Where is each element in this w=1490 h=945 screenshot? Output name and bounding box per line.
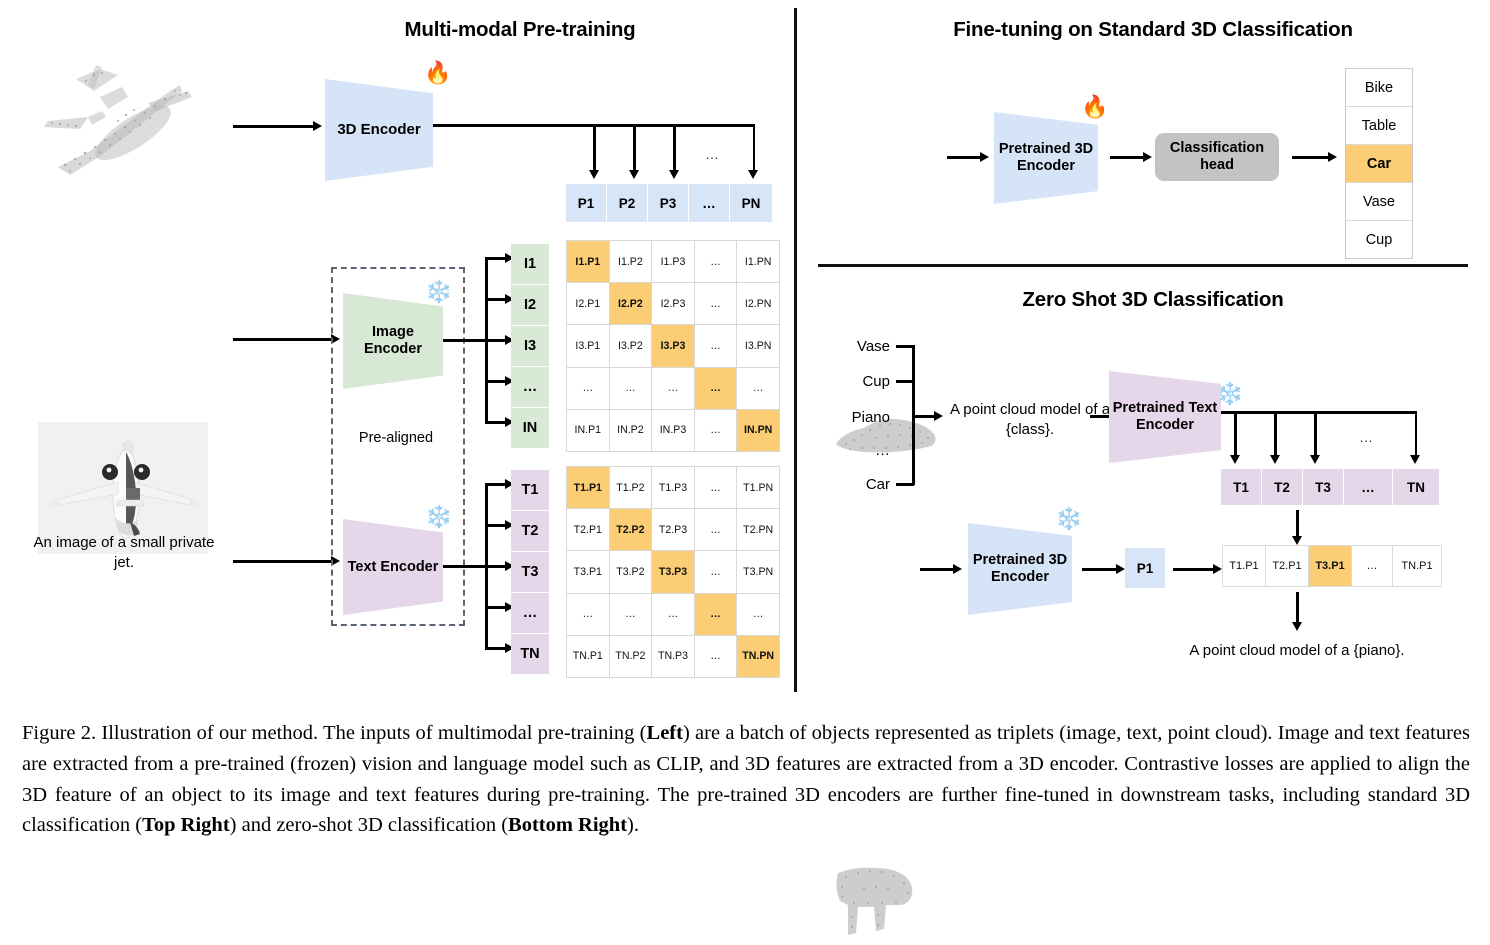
zs-chip-tn: TN xyxy=(1393,469,1439,505)
snowflake-icon-text: ❄️ xyxy=(425,506,452,528)
image-matrix-cell-r1-c1: I1.P1 xyxy=(567,241,609,282)
text-matrix-cell-r1-c1: T1.P1 xyxy=(567,467,609,508)
image-matrix-cell-r1-c4: … xyxy=(695,241,737,282)
chip-t-ellipsis: … xyxy=(511,593,549,634)
chip-i3: I3 xyxy=(511,326,549,367)
image-matrix-cell-r4-c2: … xyxy=(610,368,652,409)
class-item-bike: Bike xyxy=(1346,69,1412,107)
bottom-right-title: Zero Shot 3D Classification xyxy=(838,288,1468,312)
encoder-image: Image Encoder xyxy=(343,293,443,389)
caption-mid2: ) and zero-shot 3D classification ( xyxy=(230,814,508,836)
image-matrix-cell-r2-c3: I2.P3 xyxy=(652,283,694,324)
image-matrix-cell-r5-c4: … xyxy=(695,410,737,451)
chip-t3: T3 xyxy=(511,552,549,593)
zs-chip-t3: T3 xyxy=(1303,469,1344,505)
chip-pn: PN xyxy=(730,184,772,222)
caption-bold-left: Left xyxy=(647,722,683,744)
fire-icon-finetune: 🔥 xyxy=(1081,96,1108,118)
chip-p2: P2 xyxy=(607,184,648,222)
text-matrix-cell-r3-c3: T3.P3 xyxy=(652,551,694,592)
text-matrix-cell-r2-c2: T2.P2 xyxy=(610,509,652,550)
zs-sim-cell-2: T2.P1 xyxy=(1266,546,1308,586)
text-matrix-cell-r4-c2: … xyxy=(610,594,652,635)
snowflake-icon-zs-3d: ❄️ xyxy=(1055,508,1082,530)
pretrained-3d-encoder-label: Pretrained 3D Encoder xyxy=(994,141,1098,174)
text-matrix-cell-r4-c5: … xyxy=(737,594,779,635)
chip-tn: TN xyxy=(511,634,549,674)
zs-t-feature-row: T1 T2 T3 … TN xyxy=(1221,469,1439,505)
p-feature-row: P1 P2 P3 … PN xyxy=(566,184,772,222)
image-matrix-cell-r4-c3: … xyxy=(652,368,694,409)
classification-result-list: BikeTableCarVaseCup xyxy=(1345,68,1413,259)
text-input-caption: An image of a small private jet. xyxy=(28,533,220,574)
image-matrix-cell-r2-c1: I2.P1 xyxy=(567,283,609,324)
text-matrix-cell-r1-c2: T1.P2 xyxy=(610,467,652,508)
fire-icon: 🔥 xyxy=(424,62,451,84)
zs-chip-t1: T1 xyxy=(1221,469,1262,505)
chip-p1: P1 xyxy=(566,184,607,222)
chip-p-ellipsis: … xyxy=(689,184,730,222)
text-matrix-cell-r2-c1: T2.P1 xyxy=(567,509,609,550)
text-matrix-cell-r5-c4: … xyxy=(695,636,737,677)
text-matrix-cell-r2-c4: … xyxy=(695,509,737,550)
i-feature-stack: I1 I2 I3 … IN xyxy=(511,244,549,448)
class-item-vase: Vase xyxy=(1346,183,1412,221)
text-matrix-cell-r1-c4: … xyxy=(695,467,737,508)
snowflake-icon-image: ❄️ xyxy=(425,281,452,303)
zs-chip-p1: P1 xyxy=(1125,548,1166,588)
chip-p3: P3 xyxy=(648,184,689,222)
image-matrix-cell-r4-c1: … xyxy=(567,368,609,409)
zs-chip-t-ellipsis: … xyxy=(1344,469,1393,505)
class-item-cup: Cup xyxy=(1346,221,1412,258)
text-matrix-cell-r1-c3: T1.P3 xyxy=(652,467,694,508)
image-matrix-cell-r5-c5: IN.PN xyxy=(737,410,779,451)
text-matrix-cell-r4-c3: … xyxy=(652,594,694,635)
chip-in: IN xyxy=(511,408,549,448)
zs-class-ellipsis: … xyxy=(832,442,890,459)
pretrained-3d-encoder-zeroshot: Pretrained 3D Encoder xyxy=(968,523,1072,615)
image-matrix-cell-r3-c5: I3.PN xyxy=(737,325,779,366)
text-matrix-cell-r3-c1: T3.P1 xyxy=(567,551,609,592)
zeroshot-result-text: A point cloud model of a {piano}. xyxy=(1172,641,1422,661)
chip-i-ellipsis: … xyxy=(511,367,549,408)
zs-class-car: Car xyxy=(832,476,890,493)
pretrained-3d-encoder-finetune: Pretrained 3D Encoder xyxy=(994,112,1098,204)
text-matrix-cell-r5-c2: TN.P2 xyxy=(610,636,652,677)
text-matrix-cell-r5-c1: TN.P1 xyxy=(567,636,609,677)
encoder-image-label: Image Encoder xyxy=(343,324,443,357)
image-matrix-cell-r5-c3: IN.P3 xyxy=(652,410,694,451)
encoder-3d: 3D Encoder xyxy=(325,79,433,181)
text-matrix-cell-r4-c1: … xyxy=(567,594,609,635)
piano-point-cloud xyxy=(828,861,1490,945)
text-matrix-cell-r5-c5: TN.PN xyxy=(737,636,779,677)
top-right-title: Fine-tuning on Standard 3D Classificatio… xyxy=(838,18,1468,42)
t-feature-stack: T1 T2 T3 … TN xyxy=(511,470,549,674)
text-matrix-cell-r3-c2: T3.P2 xyxy=(610,551,652,592)
left-panel-title: Multi-modal Pre-training xyxy=(250,18,790,42)
image-matrix-cell-r4-c4: … xyxy=(695,368,737,409)
caption-bold-topright: Top Right xyxy=(142,814,230,836)
caption-suffix: ). xyxy=(627,814,639,836)
encoder-3d-label: 3D Encoder xyxy=(337,121,420,138)
text-matrix-cell-r4-c4: … xyxy=(695,594,737,635)
text-similarity-matrix: T1.P1T1.P2T1.P3…T1.PNT2.P1T2.P2T2.P3…T2.… xyxy=(566,466,780,678)
figure-caption: Figure 2. Illustration of our method. Th… xyxy=(22,718,1470,841)
chip-i2: I2 xyxy=(511,285,549,326)
horizontal-divider xyxy=(818,264,1468,267)
image-matrix-cell-r1-c3: I1.P3 xyxy=(652,241,694,282)
zs-sim-cell-5: TN.P1 xyxy=(1393,546,1441,586)
encoder-text-label: Text Encoder xyxy=(348,559,439,576)
image-matrix-cell-r3-c4: … xyxy=(695,325,737,366)
text-matrix-cell-r1-c5: T1.PN xyxy=(737,467,779,508)
fanout-ellipsis: … xyxy=(705,146,720,162)
text-matrix-cell-r5-c3: TN.P3 xyxy=(652,636,694,677)
pretrained-3d-encoder-zs-label: Pretrained 3D Encoder xyxy=(968,552,1072,585)
image-matrix-cell-r3-c2: I3.P2 xyxy=(610,325,652,366)
pretrained-text-encoder: Pretrained Text Encoder xyxy=(1109,371,1221,463)
image-matrix-cell-r3-c3: I3.P3 xyxy=(652,325,694,366)
text-matrix-cell-r3-c4: … xyxy=(695,551,737,592)
zs-sim-cell-4: … xyxy=(1352,546,1392,586)
text-matrix-cell-r2-c5: T2.PN xyxy=(737,509,779,550)
zs-class-vase: Vase xyxy=(832,338,890,355)
caption-bold-bottomright: Bottom Right xyxy=(508,814,627,836)
text-matrix-cell-r3-c5: T3.PN xyxy=(737,551,779,592)
class-item-car: Car xyxy=(1346,145,1412,183)
zs-sim-cell-1: T1.P1 xyxy=(1223,546,1265,586)
prealigned-label: Pre-aligned xyxy=(331,430,461,446)
figure-canvas: Multi-modal Pre-training xyxy=(0,0,1490,888)
class-item-table: Table xyxy=(1346,107,1412,145)
image-matrix-cell-r5-c1: IN.P1 xyxy=(567,410,609,451)
zs-chip-t2: T2 xyxy=(1262,469,1303,505)
image-matrix-cell-r2-c4: … xyxy=(695,283,737,324)
pretrained-text-encoder-label: Pretrained Text Encoder xyxy=(1109,400,1221,433)
chip-t2: T2 xyxy=(511,511,549,552)
zs-sim-cell-3: T3.P1 xyxy=(1309,546,1351,586)
zs-fanout-ellipsis: … xyxy=(1359,429,1374,445)
chip-i1: I1 xyxy=(511,244,549,285)
encoder-text: Text Encoder xyxy=(343,519,443,615)
zs-class-piano: Piano xyxy=(824,409,890,426)
zs-prompt-template: A point cloud model of a {class}. xyxy=(942,400,1118,439)
image-matrix-cell-r2-c5: I2.PN xyxy=(737,283,779,324)
image-matrix-cell-r3-c1: I3.P1 xyxy=(567,325,609,366)
image-matrix-cell-r1-c2: I1.P2 xyxy=(610,241,652,282)
image-matrix-cell-r4-c5: … xyxy=(737,368,779,409)
text-matrix-cell-r2-c3: T2.P3 xyxy=(652,509,694,550)
zs-class-cup: Cup xyxy=(832,373,890,390)
chip-t1: T1 xyxy=(511,470,549,511)
classification-head: Classification head xyxy=(1155,133,1279,181)
zeroshot-similarity-row: T1.P1T2.P1T3.P1…TN.P1 xyxy=(1222,545,1442,587)
image-matrix-cell-r2-c2: I2.P2 xyxy=(610,283,652,324)
caption-prefix: Figure 2. Illustration of our method. Th… xyxy=(22,722,647,744)
image-matrix-cell-r5-c2: IN.P2 xyxy=(610,410,652,451)
image-matrix-cell-r1-c5: I1.PN xyxy=(737,241,779,282)
image-similarity-matrix: I1.P1I1.P2I1.P3…I1.PNI2.P1I2.P2I2.P3…I2.… xyxy=(566,240,780,452)
